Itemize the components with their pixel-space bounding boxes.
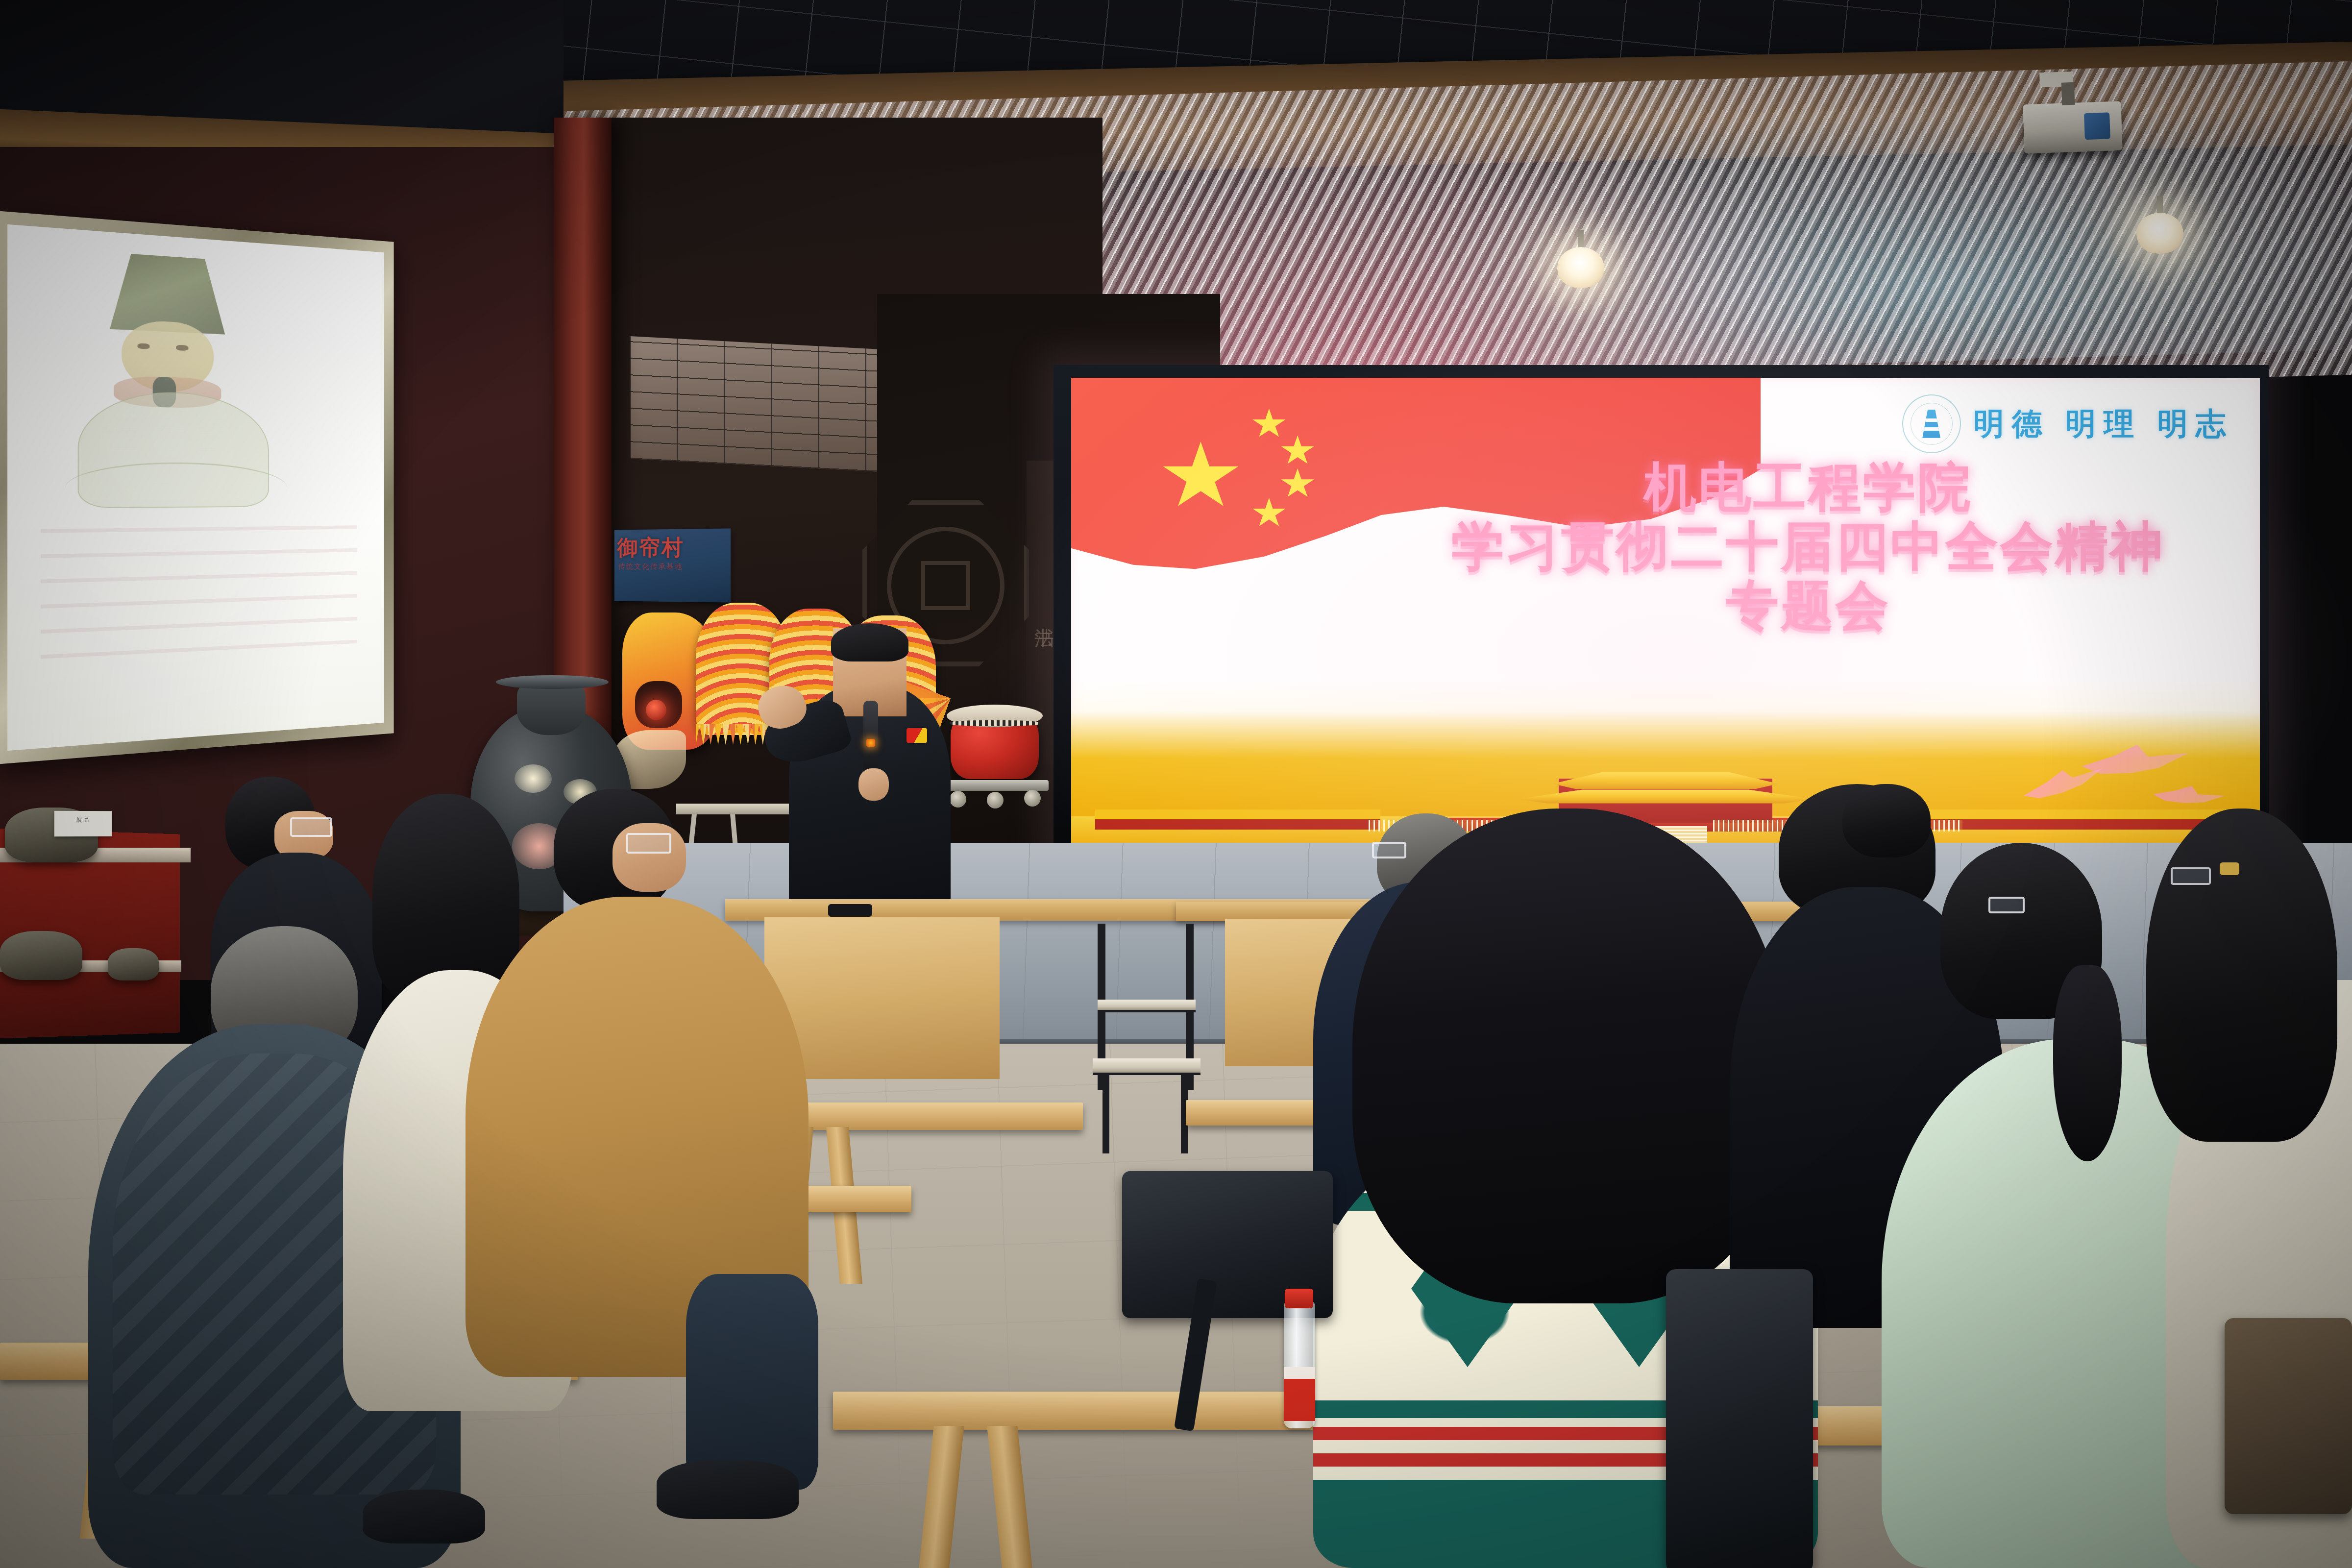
palace-roof-upper bbox=[1553, 770, 1779, 789]
portrait-canvas bbox=[7, 224, 384, 751]
slide-title-line-2: 学习贯彻二十届四中全会精神 bbox=[1380, 517, 2236, 577]
vase-blossom-1 bbox=[514, 764, 552, 793]
shoe-foreground bbox=[363, 1490, 485, 1543]
hair-clip-accessory bbox=[2220, 862, 2239, 875]
university-motto-text: 明德 明理 明志 bbox=[1974, 403, 2234, 444]
water-bottle-cap bbox=[1285, 1289, 1313, 1308]
portrait-eye-left bbox=[137, 343, 149, 349]
chair-leg-1 bbox=[1102, 1075, 1109, 1153]
backpack-right bbox=[1666, 1269, 1813, 1568]
palace-side-building-left bbox=[1095, 809, 1380, 830]
drum-trim-band bbox=[950, 720, 1040, 726]
ceramic-pot-medium bbox=[0, 931, 82, 980]
bulb-stem-2 bbox=[1578, 230, 1584, 249]
slide-title-line-3: 专题会 bbox=[1380, 577, 2236, 636]
drum-caster-1 bbox=[950, 791, 966, 808]
eyeglasses-icon-3 bbox=[1372, 842, 1406, 858]
handheld-microphone bbox=[863, 701, 878, 774]
projector-right bbox=[2023, 101, 2122, 154]
slide-title-block: 机电工程学院 学习贯彻二十届四中全会精神 专题会 bbox=[1380, 458, 2236, 636]
exhibit-label-card: 展品 bbox=[54, 811, 112, 836]
vase-lip bbox=[496, 675, 609, 689]
ceiling-bulb-2 bbox=[1557, 247, 1604, 288]
dragon-eye bbox=[646, 700, 666, 720]
led-screen: 明德 明理 明志 机电工程学院 学习贯彻二十届四中全会精神 专题会 bbox=[1071, 378, 2260, 850]
slide-title-line-1: 机电工程学院 bbox=[1380, 458, 2236, 517]
speaker-hair bbox=[831, 623, 908, 661]
ceiling-cyan-glow bbox=[1421, 95, 2352, 375]
phone-on-table bbox=[828, 904, 872, 917]
audience-argyle-woman-hair bbox=[1352, 808, 1784, 1303]
dove-icon-1 bbox=[2082, 745, 2188, 782]
university-seal-icon bbox=[1902, 394, 1961, 453]
ceiling-bulb-3 bbox=[2136, 213, 2183, 254]
audience-cream-coat-hair bbox=[2146, 808, 2337, 1142]
handbag-right bbox=[2225, 1318, 2352, 1514]
university-mountain-mark-icon bbox=[1918, 410, 1945, 438]
palace-side-building-right bbox=[1915, 809, 2236, 830]
portrait-inscription-text bbox=[41, 525, 357, 675]
university-seal-inner-ring bbox=[1911, 403, 1953, 445]
audience-tan-coat-legs bbox=[686, 1274, 818, 1490]
eyeglasses-icon-2 bbox=[626, 833, 671, 854]
water-bottle-label bbox=[1284, 1367, 1315, 1421]
microphone-led-indicator bbox=[866, 739, 875, 747]
chair-backrest-slat bbox=[1098, 1000, 1196, 1012]
audience-tan-coat-shoe bbox=[657, 1460, 799, 1519]
eyeglasses-icon-1 bbox=[290, 817, 332, 837]
audience-back-row-head bbox=[1842, 784, 1931, 857]
bulb-stem-3 bbox=[2157, 196, 2163, 215]
photo-scene: 展品 书法 御帘村 传统文化传承基地 bbox=[0, 0, 2352, 1568]
eyeglasses-icon-4 bbox=[1988, 897, 2025, 913]
village-sign-title: 御帘村 bbox=[614, 528, 731, 562]
exhibit-label-text: 展品 bbox=[54, 811, 112, 824]
eyeglasses-icon-5 bbox=[2171, 867, 2211, 885]
exposed-brick-patch bbox=[630, 336, 889, 472]
portrait-eye-right bbox=[176, 344, 188, 350]
drum-caster-3 bbox=[1024, 790, 1041, 807]
party-emblem-badge bbox=[906, 728, 927, 743]
university-logo-lockup: 明德 明理 明志 bbox=[1902, 394, 2234, 453]
portrait-arms bbox=[66, 462, 287, 514]
audience-mint-coat-ponytail bbox=[2053, 965, 2122, 1161]
vase-neck bbox=[517, 681, 586, 735]
drum-cart bbox=[946, 780, 1049, 791]
framed-portrait bbox=[0, 211, 394, 764]
led-screen-bezel: 明德 明理 明志 机电工程学院 学习贯彻二十届四中全会精神 专题会 bbox=[1053, 365, 2269, 860]
forbidden-city-illustration bbox=[1071, 680, 2260, 850]
speaker-mic-hand bbox=[858, 768, 889, 801]
ceramic-cup bbox=[108, 948, 159, 980]
chair-seat-1 bbox=[1093, 1058, 1200, 1075]
drum-caster-2 bbox=[987, 792, 1004, 808]
